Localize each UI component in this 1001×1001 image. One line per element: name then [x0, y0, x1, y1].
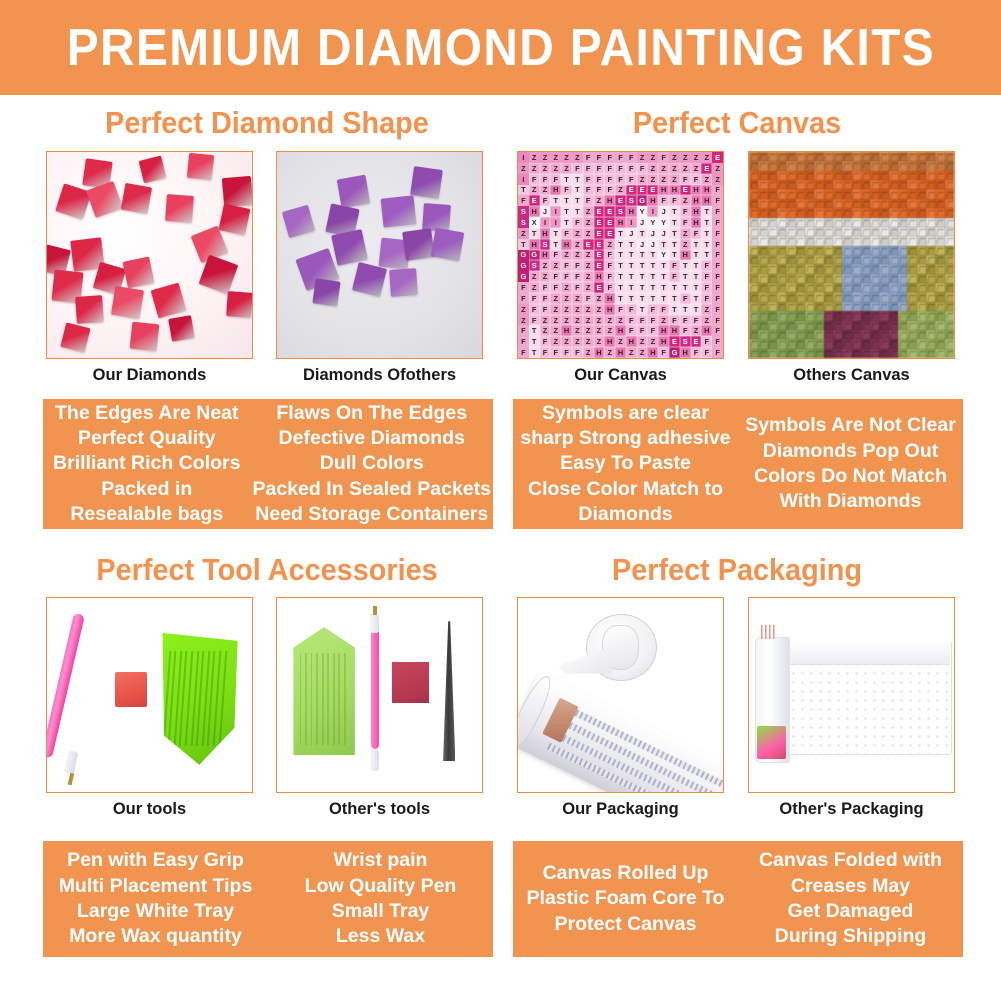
- canvas-symbol-cell: [945, 274, 954, 283]
- canvas-symbol-cell: Z: [637, 336, 648, 347]
- canvas-symbol-cell: T: [626, 239, 637, 250]
- canvas-symbol-cell: [833, 246, 842, 255]
- canvas-symbol-cell: [796, 246, 805, 255]
- canvas-symbol-cell: [786, 302, 795, 311]
- canvas-symbol-cell: [824, 339, 833, 348]
- canvas-symbol-cell: [749, 264, 758, 273]
- canvas-symbol-cell: F: [604, 174, 615, 185]
- canvas-symbol-cell: [852, 227, 861, 236]
- canvas-symbol-cell: F: [626, 174, 637, 185]
- canvas-symbol-cell: Z: [550, 293, 561, 304]
- canvas-symbol-cell: F: [712, 206, 723, 217]
- canvas-symbol-cell: [758, 311, 767, 320]
- canvas-symbol-cell: Z: [701, 174, 712, 185]
- canvas-symbol-cell: [842, 218, 851, 227]
- canvas-symbol-cell: [786, 236, 795, 245]
- section-title-diamond-shape: Perfect Diamond Shape: [59, 105, 476, 141]
- canvas-symbol-cell: H: [561, 325, 572, 336]
- canvas-symbol-cell: [814, 171, 823, 180]
- canvas-symbol-cell: F: [712, 195, 723, 206]
- canvas-symbol-cell: [870, 227, 879, 236]
- canvas-symbol-cell: [749, 180, 758, 189]
- canvas-symbol-cell: T: [561, 206, 572, 217]
- canvas-symbol-cell: [870, 171, 879, 180]
- canvas-symbol-cell: T: [626, 271, 637, 282]
- canvas-symbol-cell: [898, 264, 907, 273]
- canvas-symbol-cell: [814, 180, 823, 189]
- panel-our-canvas[interactable]: IZZZZZFFFFFZZFZZZZEZZZZZFFFFFFFZZZZZEZIF…: [517, 151, 724, 359]
- canvas-symbol-cell: [758, 161, 767, 170]
- canvas-symbol-cell: [889, 218, 898, 227]
- canvas-symbol-cell: [917, 330, 926, 339]
- canvas-symbol-cell: [749, 283, 758, 292]
- canvas-symbol-cell: [945, 246, 954, 255]
- canvas-symbol-cell: Z: [540, 152, 551, 163]
- canvas-symbol-cell: [749, 161, 758, 170]
- canvas-symbol-cell: [796, 292, 805, 301]
- canvas-symbol-cell: [935, 330, 944, 339]
- canvas-symbol-cell: [879, 321, 888, 330]
- section-title-canvas: Perfect Canvas: [529, 105, 946, 141]
- canvas-symbol-cell: T: [561, 174, 572, 185]
- canvas-symbol-cell: Z: [691, 152, 702, 163]
- canvas-symbol-cell: G: [637, 195, 648, 206]
- canvas-symbol-cell: [749, 330, 758, 339]
- canvas-symbol-cell: F: [680, 217, 691, 228]
- canvas-symbol-cell: H: [561, 239, 572, 250]
- canvas-symbol-cell: [935, 255, 944, 264]
- canvas-symbol-cell: [786, 246, 795, 255]
- canvas-symbol-cell: [758, 264, 767, 273]
- canvas-symbol-cell: [870, 292, 879, 301]
- canvas-symbol-cell: [814, 199, 823, 208]
- canvas-symbol-cell: [814, 255, 823, 264]
- canvas-symbol-cell: [935, 274, 944, 283]
- canvas-symbol-cell: S: [540, 239, 551, 250]
- canvas-symbol-cell: T: [669, 282, 680, 293]
- canvas-symbol-cell: [833, 274, 842, 283]
- tray-groove: [333, 653, 335, 745]
- canvas-symbol-cell: F: [637, 163, 648, 174]
- canvas-symbol-cell: [749, 302, 758, 311]
- canvas-symbol-cell: F: [712, 304, 723, 315]
- canvas-symbol-cell: [870, 189, 879, 198]
- canvas-symbol-cell: [861, 246, 870, 255]
- canvas-symbol-cell: [945, 171, 954, 180]
- canvas-symbol-cell: [935, 264, 944, 273]
- canvas-symbol-cell: [786, 171, 795, 180]
- text-line: Diamonds: [578, 502, 672, 527]
- canvas-symbol-cell: [805, 302, 814, 311]
- canvas-symbol-cell: [870, 255, 879, 264]
- canvas-symbol-cell: E: [691, 336, 702, 347]
- canvas-symbol-cell: F: [572, 282, 583, 293]
- canvas-symbol-cell: [861, 236, 870, 245]
- canvas-symbol-cell: [824, 161, 833, 170]
- canvas-symbol-cell: [824, 189, 833, 198]
- canvas-symbol-cell: [917, 283, 926, 292]
- canvas-symbol-cell: [852, 171, 861, 180]
- section-title-tool-accessories: Perfect Tool Accessories: [59, 552, 476, 588]
- canvas-symbol-cell: [898, 199, 907, 208]
- canvas-symbol-cell: [870, 283, 879, 292]
- canvas-symbol-cell: [805, 227, 814, 236]
- canvas-symbol-cell: Z: [540, 185, 551, 196]
- canvas-symbol-cell: [889, 321, 898, 330]
- text-line: Defective Diamonds: [279, 426, 465, 451]
- canvas-symbol-cell: [879, 227, 888, 236]
- canvas-symbol-cell: [861, 264, 870, 273]
- canvas-symbol-cell: [824, 152, 833, 161]
- canvas-symbol-cell: Z: [529, 282, 540, 293]
- canvas-symbol-cell: [889, 227, 898, 236]
- canvas-symbol-cell: [907, 199, 916, 208]
- canvas-symbol-cell: [861, 208, 870, 217]
- canvas-symbol-cell: F: [626, 163, 637, 174]
- canvas-symbol-cell: [898, 171, 907, 180]
- canvas-symbol-cell: [879, 292, 888, 301]
- canvas-symbol-cell: [889, 236, 898, 245]
- text-line: Small Tray: [332, 899, 430, 924]
- tray-groove: [311, 653, 313, 745]
- canvas-symbol-cell: [852, 161, 861, 170]
- canvas-symbol-cell: J: [647, 228, 658, 239]
- canvas-symbol-cell: H: [604, 336, 615, 347]
- canvas-symbol-cell: [768, 236, 777, 245]
- text-line: Packed in: [101, 477, 192, 502]
- canvas-symbol-cell: E: [647, 185, 658, 196]
- canvas-symbol-cell: Z: [658, 174, 669, 185]
- canvas-symbol-cell: [824, 311, 833, 320]
- canvas-symbol-cell: F: [604, 185, 615, 196]
- canvas-symbol-cell: F: [637, 315, 648, 326]
- canvas-symbol-cell: E: [594, 228, 605, 239]
- canvas-symbol-cell: [749, 349, 758, 358]
- tray-groove: [327, 653, 329, 745]
- canvas-symbol-cell: [945, 283, 954, 292]
- canvas-symbol-cell: Z: [637, 152, 648, 163]
- diamond-drill: [187, 153, 214, 180]
- canvas-symbol-cell: [824, 199, 833, 208]
- canvas-symbol-cell: T: [701, 228, 712, 239]
- canvas-symbol-cell: F: [691, 174, 702, 185]
- canvas-symbol-cell: [870, 218, 879, 227]
- canvas-symbol-cell: [805, 189, 814, 198]
- canvas-symbol-cell: [935, 152, 944, 161]
- canvas-symbol-cell: [935, 199, 944, 208]
- canvas-symbol-cell: Y: [658, 250, 669, 261]
- canvas-symbol-cell: [749, 189, 758, 198]
- canvas-symbol-cell: [945, 161, 954, 170]
- diamond-drill: [380, 196, 416, 228]
- panel-diamonds-ofothers[interactable]: [276, 151, 483, 359]
- canvas-symbol-cell: Z: [561, 152, 572, 163]
- canvas-symbol-cell: [833, 302, 842, 311]
- canvas-symbol-cell: F: [572, 217, 583, 228]
- canvas-symbol-cell: Z: [583, 347, 594, 358]
- canvas-symbol-cell: Z: [604, 325, 615, 336]
- canvas-symbol-cell: [935, 311, 944, 320]
- canvas-symbol-cell: [814, 264, 823, 273]
- canvas-symbol-cell: [796, 161, 805, 170]
- canvas-symbol-cell: [833, 189, 842, 198]
- canvas-symbol-cell: [842, 208, 851, 217]
- canvas-symbol-cell: [824, 330, 833, 339]
- canvas-symbol-cell: [758, 189, 767, 198]
- canvas-symbol-cell: [814, 311, 823, 320]
- diamond-drill: [219, 203, 251, 235]
- canvas-symbol-cell: T: [647, 293, 658, 304]
- canvas-symbol-cell: [889, 189, 898, 198]
- canvas-symbol-cell: [926, 264, 935, 273]
- text-block-diamond-shape: The Edges Are Neat Perfect Quality Brill…: [43, 399, 493, 529]
- diamond-drill: [312, 278, 340, 306]
- canvas-symbol-cell: [768, 171, 777, 180]
- canvas-symbol-cell: [758, 339, 767, 348]
- canvas-symbol-cell: [749, 227, 758, 236]
- canvas-symbol-cell: S: [529, 260, 540, 271]
- canvas-symbol-cell: Z: [594, 304, 605, 315]
- canvas-symbol-cell: [852, 349, 861, 358]
- canvas-symbol-cell: [749, 152, 758, 161]
- canvas-symbol-cell: [917, 339, 926, 348]
- tray-groove: [305, 653, 307, 745]
- canvas-symbol-cell: [926, 208, 935, 217]
- canvas-symbol-cell: [814, 292, 823, 301]
- canvas-symbol-cell: Z: [669, 152, 680, 163]
- canvas-symbol-cell: Z: [572, 293, 583, 304]
- text-line: Pen with Easy Grip: [67, 848, 244, 873]
- canvas-symbol-cell: [907, 218, 916, 227]
- diamond-drill: [165, 194, 193, 223]
- canvas-symbol-cell: E: [604, 206, 615, 217]
- canvas-symbol-cell: [935, 189, 944, 198]
- canvas-symbol-cell: [926, 283, 935, 292]
- canvas-symbol-cell: [777, 180, 786, 189]
- canvas-symbol-cell: E: [583, 239, 594, 250]
- canvas-symbol-cell: T: [691, 239, 702, 250]
- panel-others-tools[interactable]: [276, 597, 483, 793]
- canvas-symbol-cell: [814, 218, 823, 227]
- canvas-symbol-cell: T: [680, 304, 691, 315]
- panel-our-diamonds[interactable]: [46, 151, 253, 359]
- text-line: During Shipping: [775, 924, 927, 949]
- canvas-symbol-cell: [945, 330, 954, 339]
- canvas-symbol-cell: [935, 208, 944, 217]
- canvas-symbol-cell: [889, 339, 898, 348]
- canvas-symbol-cell: [852, 152, 861, 161]
- our-canvas-photo: IZZZZZFFFFFZZFZZZZEZZZZZFFFFFFFZZZZZEZIF…: [518, 152, 723, 358]
- canvas-symbol-cell: Z: [626, 347, 637, 358]
- canvas-symbol-cell: Z: [604, 239, 615, 250]
- canvas-symbol-cell: E: [637, 185, 648, 196]
- canvas-symbol-cell: F: [637, 325, 648, 336]
- canvas-symbol-cell: [786, 218, 795, 227]
- canvas-symbol-cell: [768, 180, 777, 189]
- canvas-symbol-cell: F: [615, 304, 626, 315]
- others-packaging-photo: [749, 598, 954, 792]
- tray-groove: [316, 653, 318, 745]
- canvas-symbol-cell: [917, 302, 926, 311]
- canvas-symbol-cell: [870, 180, 879, 189]
- panel-our-tools[interactable]: [46, 597, 253, 793]
- canvas-symbol-cell: E: [615, 195, 626, 206]
- text-column-our-packaging: Canvas Rolled Up Plastic Foam Core To Pr…: [513, 841, 738, 957]
- canvas-symbol-cell: F: [712, 185, 723, 196]
- canvas-symbol-cell: [945, 349, 954, 358]
- canvas-symbol-cell: [758, 292, 767, 301]
- canvas-symbol-cell: T: [529, 325, 540, 336]
- canvas-symbol-cell: [824, 264, 833, 273]
- canvas-symbol-cell: [907, 339, 916, 348]
- diamond-tray: [293, 627, 355, 755]
- canvas-symbol-cell: F: [712, 239, 723, 250]
- canvas-symbol-cell: [861, 283, 870, 292]
- canvas-symbol-cell: [796, 255, 805, 264]
- canvas-symbol-cell: T: [529, 347, 540, 358]
- panel-our-packaging[interactable]: SS-011: [517, 597, 724, 793]
- canvas-symbol-cell: Z: [594, 293, 605, 304]
- text-column-our-tools: Pen with Easy Grip Multi Placement Tips …: [43, 841, 268, 957]
- canvas-symbol-cell: [749, 292, 758, 301]
- canvas-symbol-cell: F: [518, 336, 529, 347]
- canvas-symbol-cell: F: [658, 304, 669, 315]
- canvas-symbol-cell: H: [658, 325, 669, 336]
- canvas-symbol-cell: T: [615, 282, 626, 293]
- pen-tip-holder: [370, 614, 379, 633]
- canvas-symbol-cell: [879, 218, 888, 227]
- canvas-symbol-cell: H: [691, 185, 702, 196]
- wax-square: [115, 672, 148, 707]
- canvas-symbol-cell: T: [572, 206, 583, 217]
- canvas-symbol-cell: G: [669, 347, 680, 358]
- panel-others-canvas[interactable]: [748, 151, 955, 359]
- canvas-symbol-cell: [907, 302, 916, 311]
- section-title-packaging: Perfect Packaging: [529, 552, 946, 588]
- canvas-symbol-cell: Z: [518, 315, 529, 326]
- canvas-symbol-cell: [777, 218, 786, 227]
- canvas-symbol-cell: [749, 208, 758, 217]
- canvas-symbol-cell: [861, 180, 870, 189]
- canvas-symbol-cell: [805, 199, 814, 208]
- canvas-symbol-cell: [852, 330, 861, 339]
- canvas-symbol-cell: Z: [701, 304, 712, 315]
- canvas-symbol-cell: [758, 255, 767, 264]
- canvas-symbol-cell: [786, 152, 795, 161]
- canvas-symbol-cell: Z: [540, 163, 551, 174]
- canvas-symbol-cell: [777, 236, 786, 245]
- canvas-symbol-cell: [935, 339, 944, 348]
- canvas-symbol-cell: [879, 180, 888, 189]
- canvas-symbol-cell: Z: [583, 304, 594, 315]
- canvas-symbol-cell: T: [680, 282, 691, 293]
- canvas-symbol-cell: [917, 255, 926, 264]
- canvas-symbol-cell: H: [658, 185, 669, 196]
- panel-others-packaging[interactable]: [748, 597, 955, 793]
- text-line: Flaws On The Edges: [276, 401, 467, 426]
- canvas-symbol-cell: [768, 255, 777, 264]
- text-line: Multi Placement Tips: [59, 874, 253, 899]
- canvas-symbol-cell: [824, 246, 833, 255]
- canvas-symbol-cell: [945, 208, 954, 217]
- header-bar: PREMIUM DIAMOND PAINTING KITS: [0, 0, 1001, 95]
- canvas-symbol-cell: I: [540, 217, 551, 228]
- canvas-symbol-cell: [768, 218, 777, 227]
- canvas-symbol-cell: [861, 349, 870, 358]
- canvas-symbol-cell: [907, 321, 916, 330]
- canvas-symbol-cell: [768, 302, 777, 311]
- canvas-symbol-cell: [907, 264, 916, 273]
- caption-our-packaging: Our Packaging: [517, 800, 724, 819]
- canvas-symbol-cell: [861, 227, 870, 236]
- canvas-symbol-cell: [898, 330, 907, 339]
- text-line: Easy To Paste: [560, 451, 691, 476]
- canvas-symbol-cell: [777, 274, 786, 283]
- canvas-symbol-cell: [870, 264, 879, 273]
- canvas-symbol-cell: [842, 339, 851, 348]
- canvas-symbol-cell: F: [701, 282, 712, 293]
- canvas-symbol-cell: [917, 152, 926, 161]
- canvas-symbol-cell: [861, 189, 870, 198]
- canvas-symbol-cell: [777, 339, 786, 348]
- canvas-symbol-cell: E: [594, 260, 605, 271]
- canvas-symbol-cell: S: [626, 195, 637, 206]
- canvas-symbol-cell: [758, 236, 767, 245]
- canvas-symbol-cell: Z: [637, 347, 648, 358]
- canvas-symbol-cell: H: [669, 325, 680, 336]
- canvas-symbol-cell: F: [658, 195, 669, 206]
- canvas-symbol-cell: F: [540, 282, 551, 293]
- canvas-symbol-cell: T: [701, 250, 712, 261]
- canvas-symbol-cell: [861, 321, 870, 330]
- our-packaging-photo: SS-011: [518, 598, 723, 792]
- wax-square: [392, 662, 429, 703]
- canvas-symbol-cell: [814, 208, 823, 217]
- canvas-symbol-cell: [852, 189, 861, 198]
- canvas-symbol-cell: F: [680, 325, 691, 336]
- canvas-symbol-cell: H: [691, 206, 702, 217]
- canvas-symbol-cell: [852, 246, 861, 255]
- canvas-symbol-cell: [898, 236, 907, 245]
- canvas-symbol-cell: [749, 321, 758, 330]
- canvas-symbol-cell: [814, 283, 823, 292]
- canvas-symbol-cell: [805, 311, 814, 320]
- canvas-symbol-cell: T: [637, 250, 648, 261]
- infographic-page: PREMIUM DIAMOND PAINTING KITS Perfect Di…: [0, 0, 1001, 1001]
- canvas-symbol-cell: [889, 161, 898, 170]
- canvas-symbol-cell: [786, 339, 795, 348]
- canvas-symbol-cell: T: [572, 174, 583, 185]
- canvas-symbol-cell: [907, 236, 916, 245]
- canvas-symbol-cell: T: [669, 293, 680, 304]
- canvas-symbol-cell: T: [637, 260, 648, 271]
- canvas-symbol-cell: [898, 180, 907, 189]
- canvas-symbol-cell: F: [712, 293, 723, 304]
- canvas-symbol-cell: [824, 274, 833, 283]
- canvas-symbol-cell: F: [550, 250, 561, 261]
- canvas-symbol-cell: [758, 274, 767, 283]
- canvas-symbol-cell: [833, 236, 842, 245]
- canvas-symbol-cell: Z: [540, 315, 551, 326]
- text-line: sharp Strong adhesive: [520, 426, 730, 451]
- tray-groove: [300, 653, 302, 745]
- canvas-symbol-cell: [861, 330, 870, 339]
- canvas-symbol-cell: [749, 199, 758, 208]
- canvas-symbol-cell: [768, 189, 777, 198]
- canvas-symbol-cell: [926, 330, 935, 339]
- canvas-symbol-cell: [917, 349, 926, 358]
- canvas-symbol-cell: S: [680, 336, 691, 347]
